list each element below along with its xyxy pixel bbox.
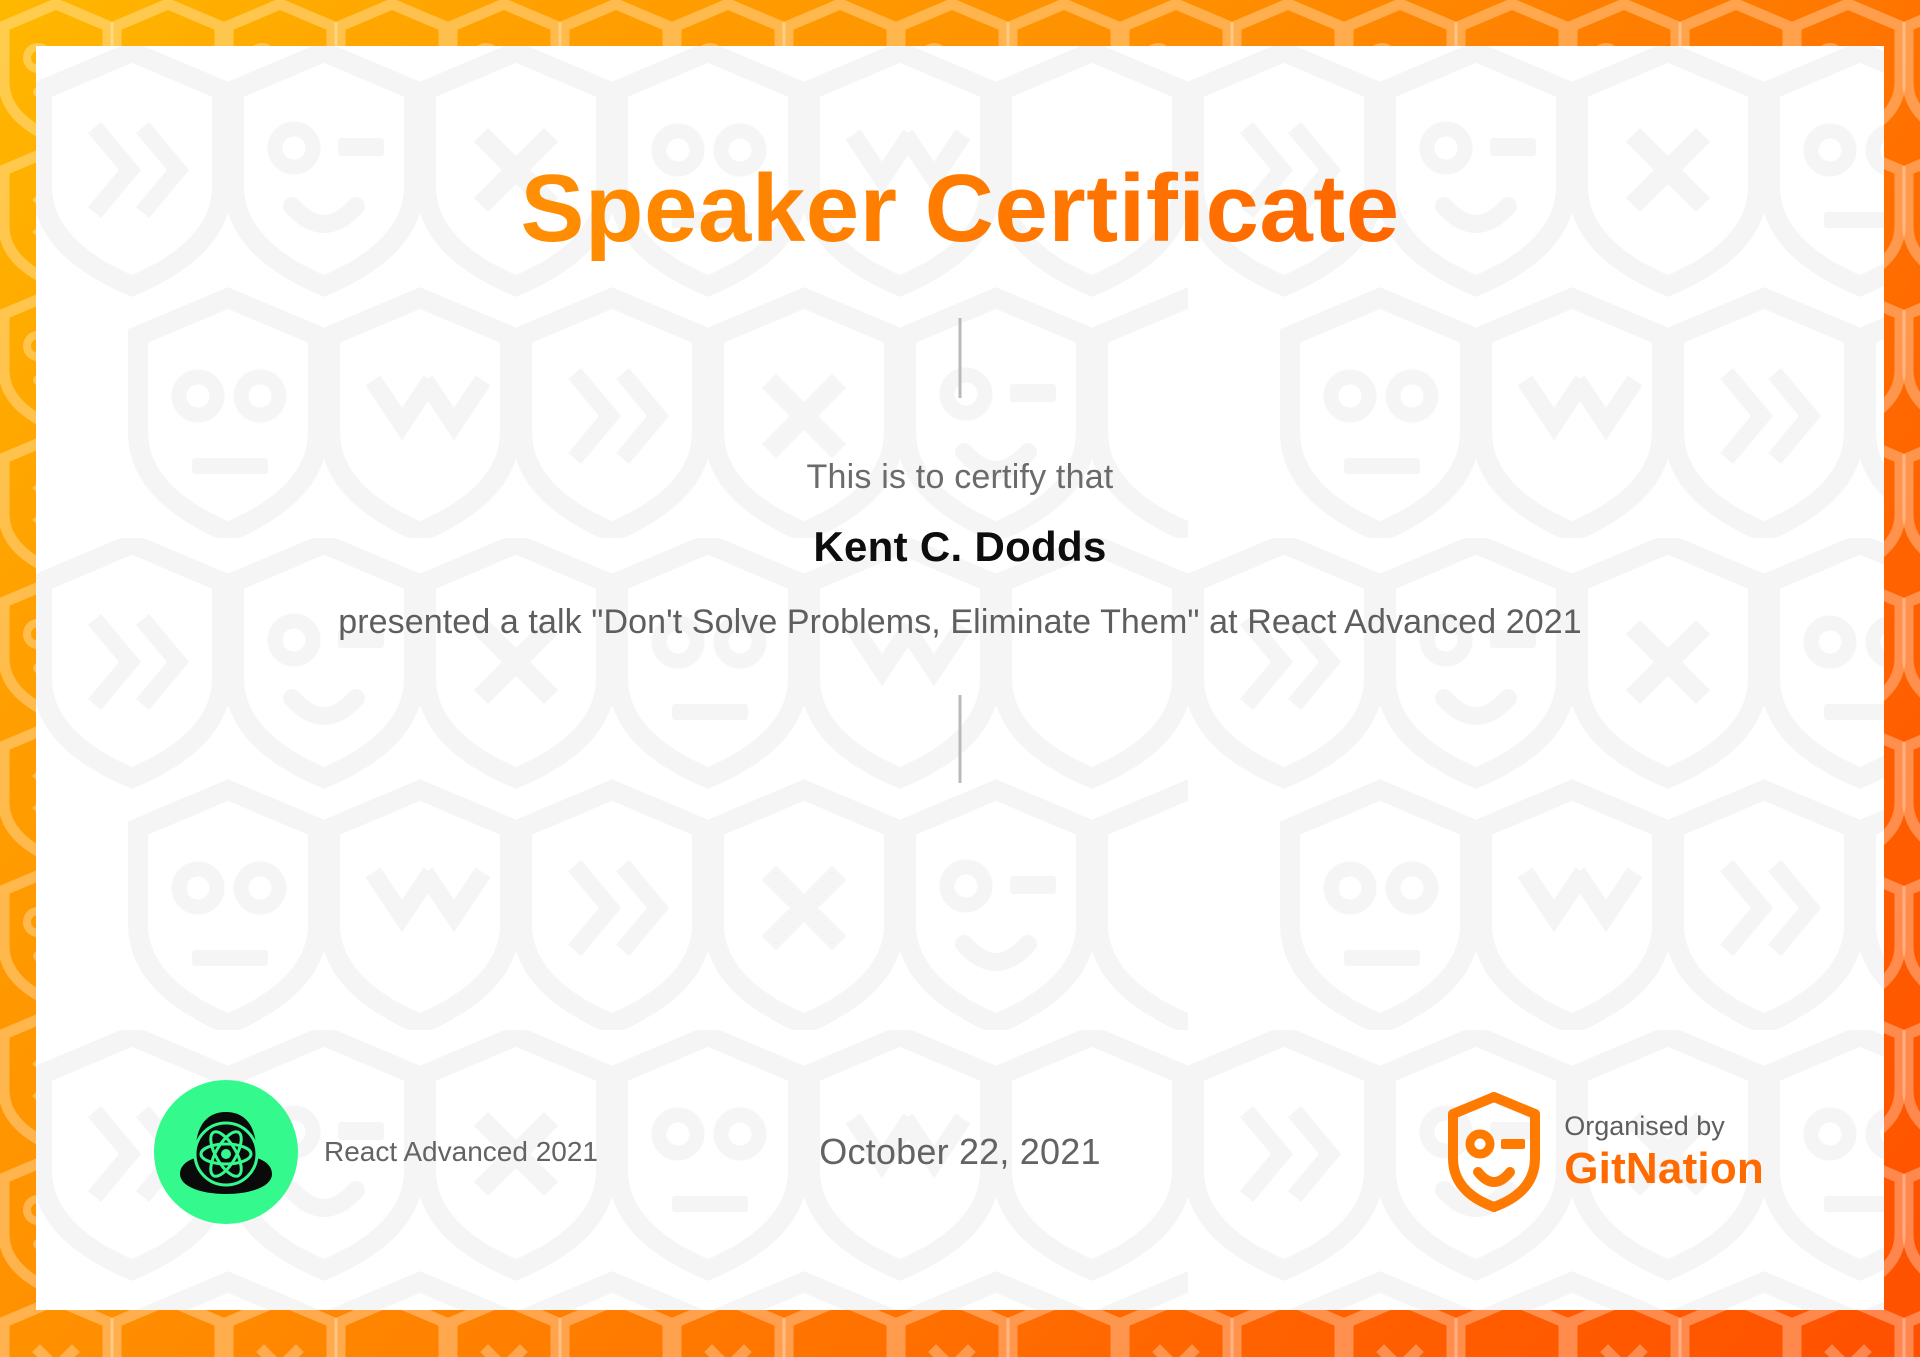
page-title: Speaker Certificate: [36, 154, 1884, 264]
event-block: React Advanced 2021: [154, 1082, 598, 1222]
organiser-block: Organised by GitNation: [1446, 1082, 1764, 1222]
certificate-footer: October 22, 2021: [36, 1082, 1884, 1222]
certificate-card: Speaker Certificate This is to certify t…: [36, 46, 1884, 1310]
react-advanced-bowler-hat-icon: [154, 1080, 298, 1224]
organiser-brand: GitNation: [1564, 1144, 1764, 1195]
talk-line: presented a talk "Don't Solve Problems, …: [36, 603, 1884, 642]
certificate: Speaker Certificate This is to certify t…: [0, 0, 1920, 1357]
certify-line: This is to certify that: [36, 458, 1884, 497]
recipient-name: Kent C. Dodds: [36, 523, 1884, 571]
divider-top: [959, 318, 962, 398]
divider-bottom: [959, 695, 962, 783]
gitnation-shield-face-icon: [1446, 1092, 1542, 1212]
certificate-body: This is to certify that Kent C. Dodds pr…: [36, 458, 1884, 642]
event-name: React Advanced 2021: [324, 1136, 598, 1168]
organiser-text: Organised by GitNation: [1564, 1110, 1764, 1194]
organiser-label: Organised by: [1564, 1110, 1764, 1144]
